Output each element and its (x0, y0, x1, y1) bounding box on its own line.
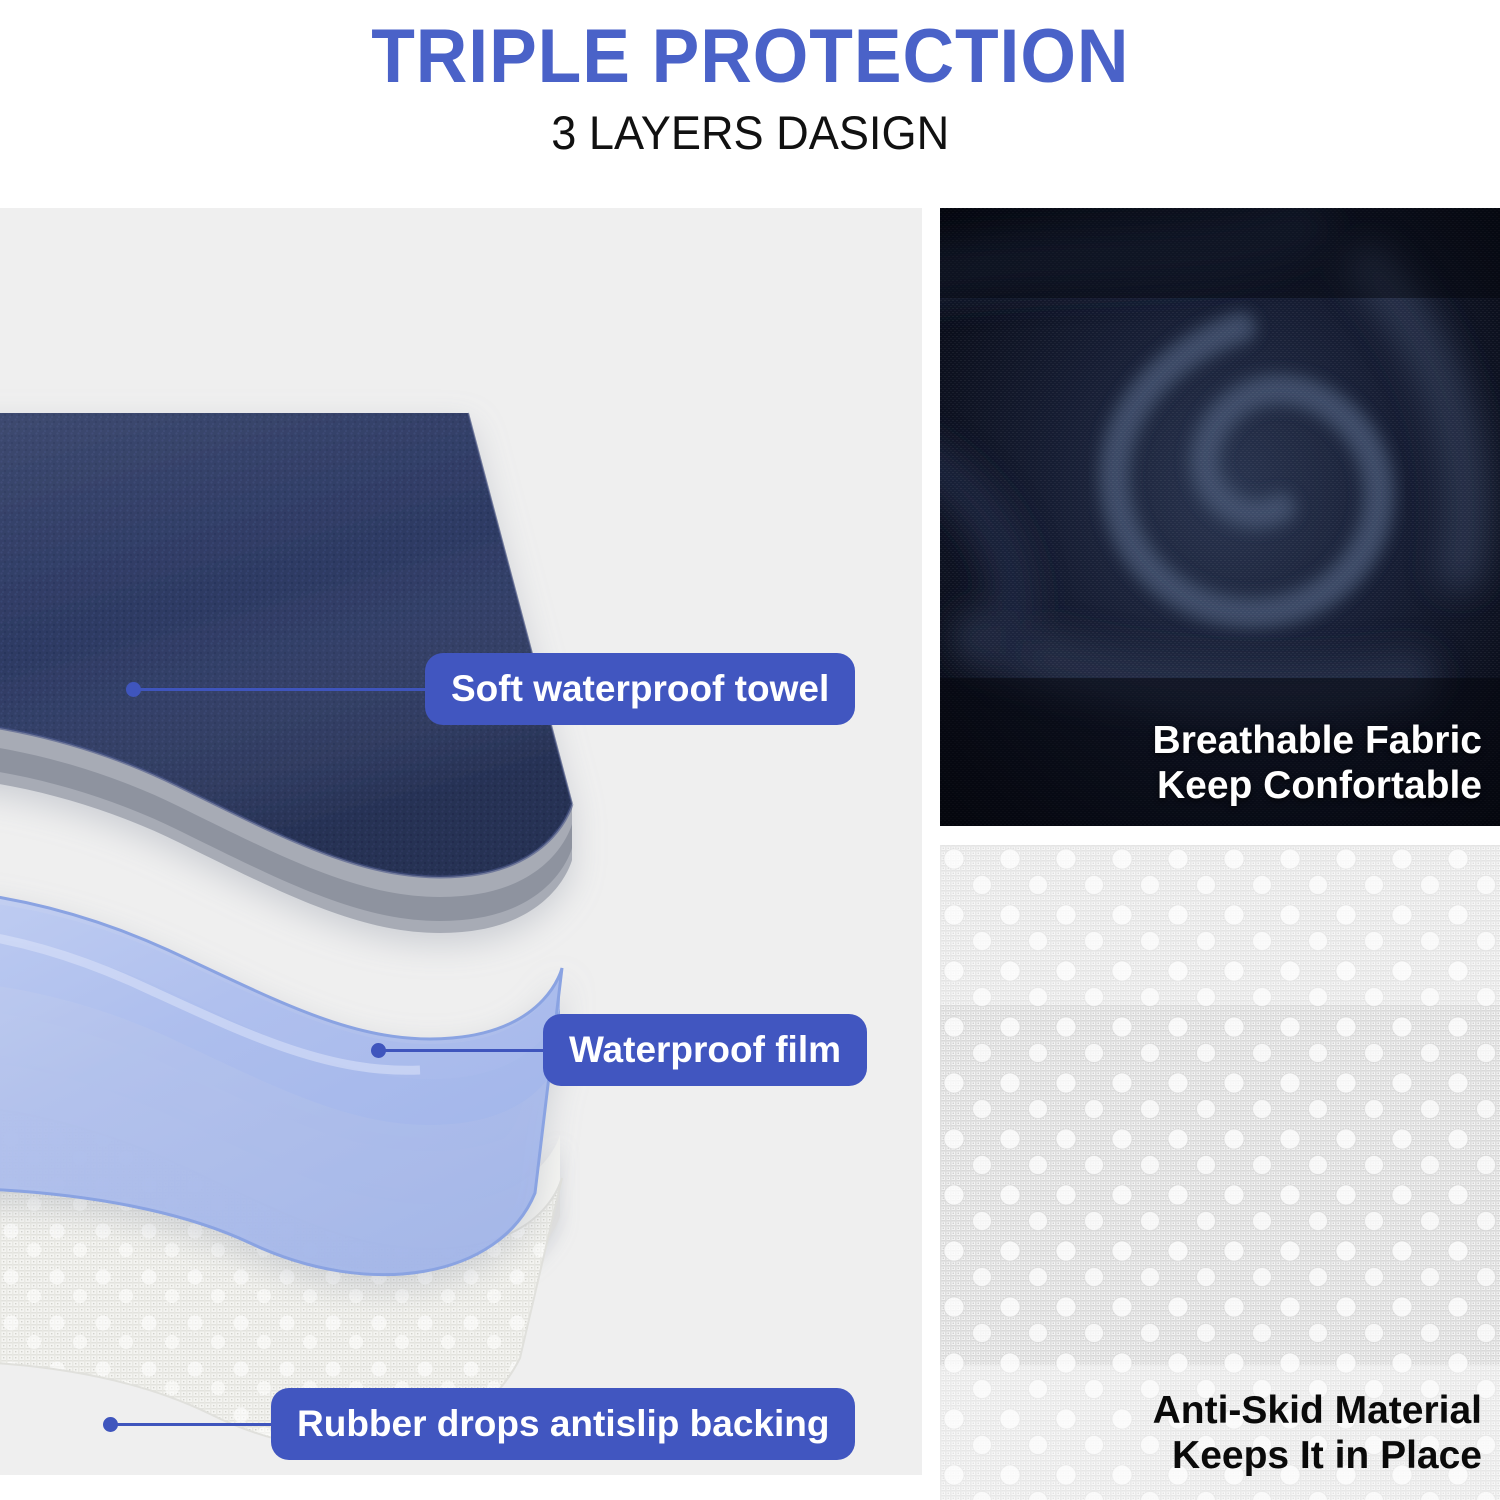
caption-line-1: Anti-Skid Material (1153, 1388, 1482, 1433)
callout-label: Waterproof film (569, 1029, 841, 1071)
breathable-fabric-panel: Breathable Fabric Keep Confortable (940, 208, 1500, 826)
anti-skid-material-panel: Anti-Skid Material Keeps It in Place (940, 845, 1500, 1500)
callout-label: Soft waterproof towel (451, 668, 829, 710)
breathable-fabric-caption: Breathable Fabric Keep Confortable (1153, 718, 1482, 808)
leader-line-waterproof-film (378, 1049, 553, 1052)
leader-line-antislip-backing (110, 1423, 282, 1426)
header-banner: TRIPLE PROTECTION 3 LAYERS DASIGN (0, 0, 1500, 208)
layer-diagram-illustration (0, 208, 922, 1475)
layer-diagram-panel: Soft waterproof towel Waterproof film Ru… (0, 208, 922, 1475)
callout-rubber-drops-antislip-backing: Rubber drops antislip backing (271, 1388, 855, 1460)
caption-line-2: Keeps It in Place (1153, 1433, 1482, 1478)
page-subtitle: 3 LAYERS DASIGN (551, 108, 949, 157)
caption-line-2: Keep Confortable (1153, 763, 1482, 808)
anti-skid-material-caption: Anti-Skid Material Keeps It in Place (1153, 1388, 1482, 1478)
callout-soft-waterproof-towel: Soft waterproof towel (425, 653, 855, 725)
callout-label: Rubber drops antislip backing (297, 1403, 829, 1445)
page-title: TRIPLE PROTECTION (371, 18, 1129, 96)
callout-waterproof-film: Waterproof film (543, 1014, 867, 1086)
caption-line-1: Breathable Fabric (1153, 718, 1482, 763)
leader-line-soft-towel (133, 688, 433, 691)
